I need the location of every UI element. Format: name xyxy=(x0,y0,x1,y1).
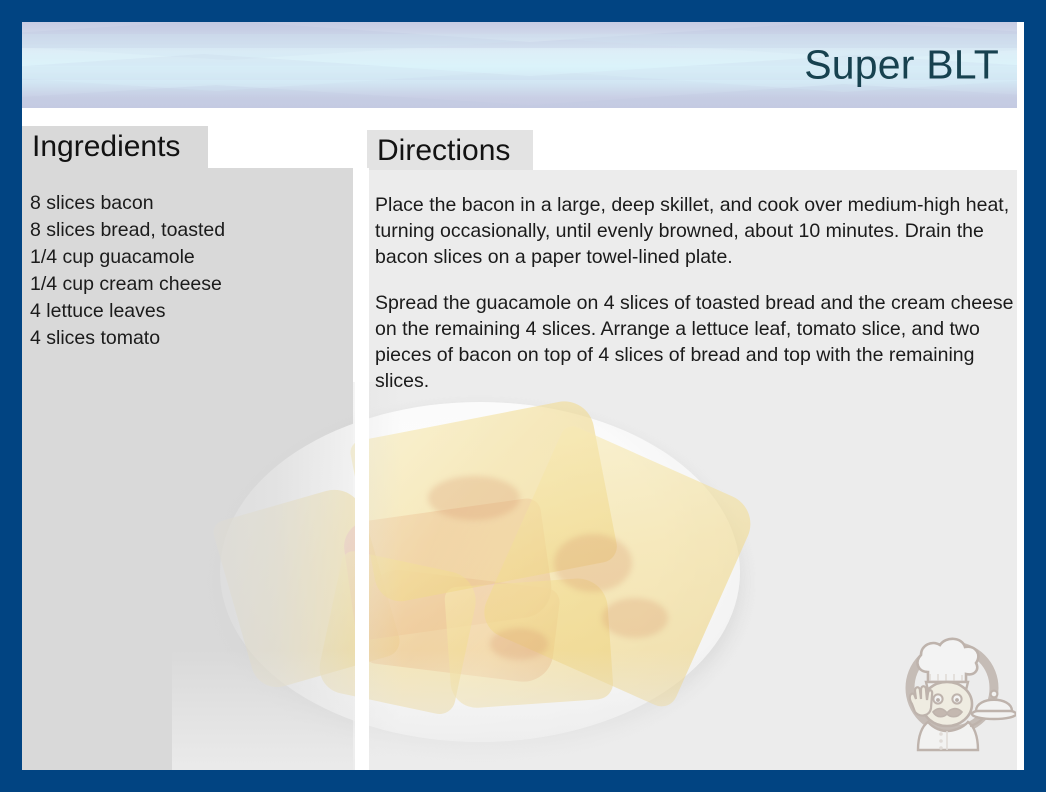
page-title: Super BLT xyxy=(804,42,999,89)
cloche-knob xyxy=(991,691,998,698)
list-item: 1/4 cup cream cheese xyxy=(30,271,350,298)
directions-paragraph: Place the bacon in a large, deep skillet… xyxy=(375,192,1015,270)
directions-heading: Directions xyxy=(377,130,577,172)
ingredients-list: 8 slices bacon 8 slices bread, toasted 1… xyxy=(30,190,350,352)
list-item: 4 slices tomato xyxy=(30,325,350,352)
chef-mascot-logo xyxy=(888,630,1016,756)
cloche-dome-icon xyxy=(976,700,1012,711)
list-item: 8 slices bread, toasted xyxy=(30,217,350,244)
column-divider xyxy=(355,168,369,770)
header-banner: Super BLT xyxy=(22,22,1017,108)
slide-content-area: Super BLT Ingredients xyxy=(22,22,1024,770)
recipe-slide: Super BLT Ingredients xyxy=(0,0,1046,792)
directions-paragraph: Spread the guacamole on 4 slices of toas… xyxy=(375,290,1015,394)
list-item: 1/4 cup guacamole xyxy=(30,244,350,271)
directions-body: Place the bacon in a large, deep skillet… xyxy=(375,192,1015,414)
list-item: 4 lettuce leaves xyxy=(30,298,350,325)
list-item: 8 slices bacon xyxy=(30,190,350,217)
ingredients-heading: Ingredients xyxy=(32,126,232,168)
